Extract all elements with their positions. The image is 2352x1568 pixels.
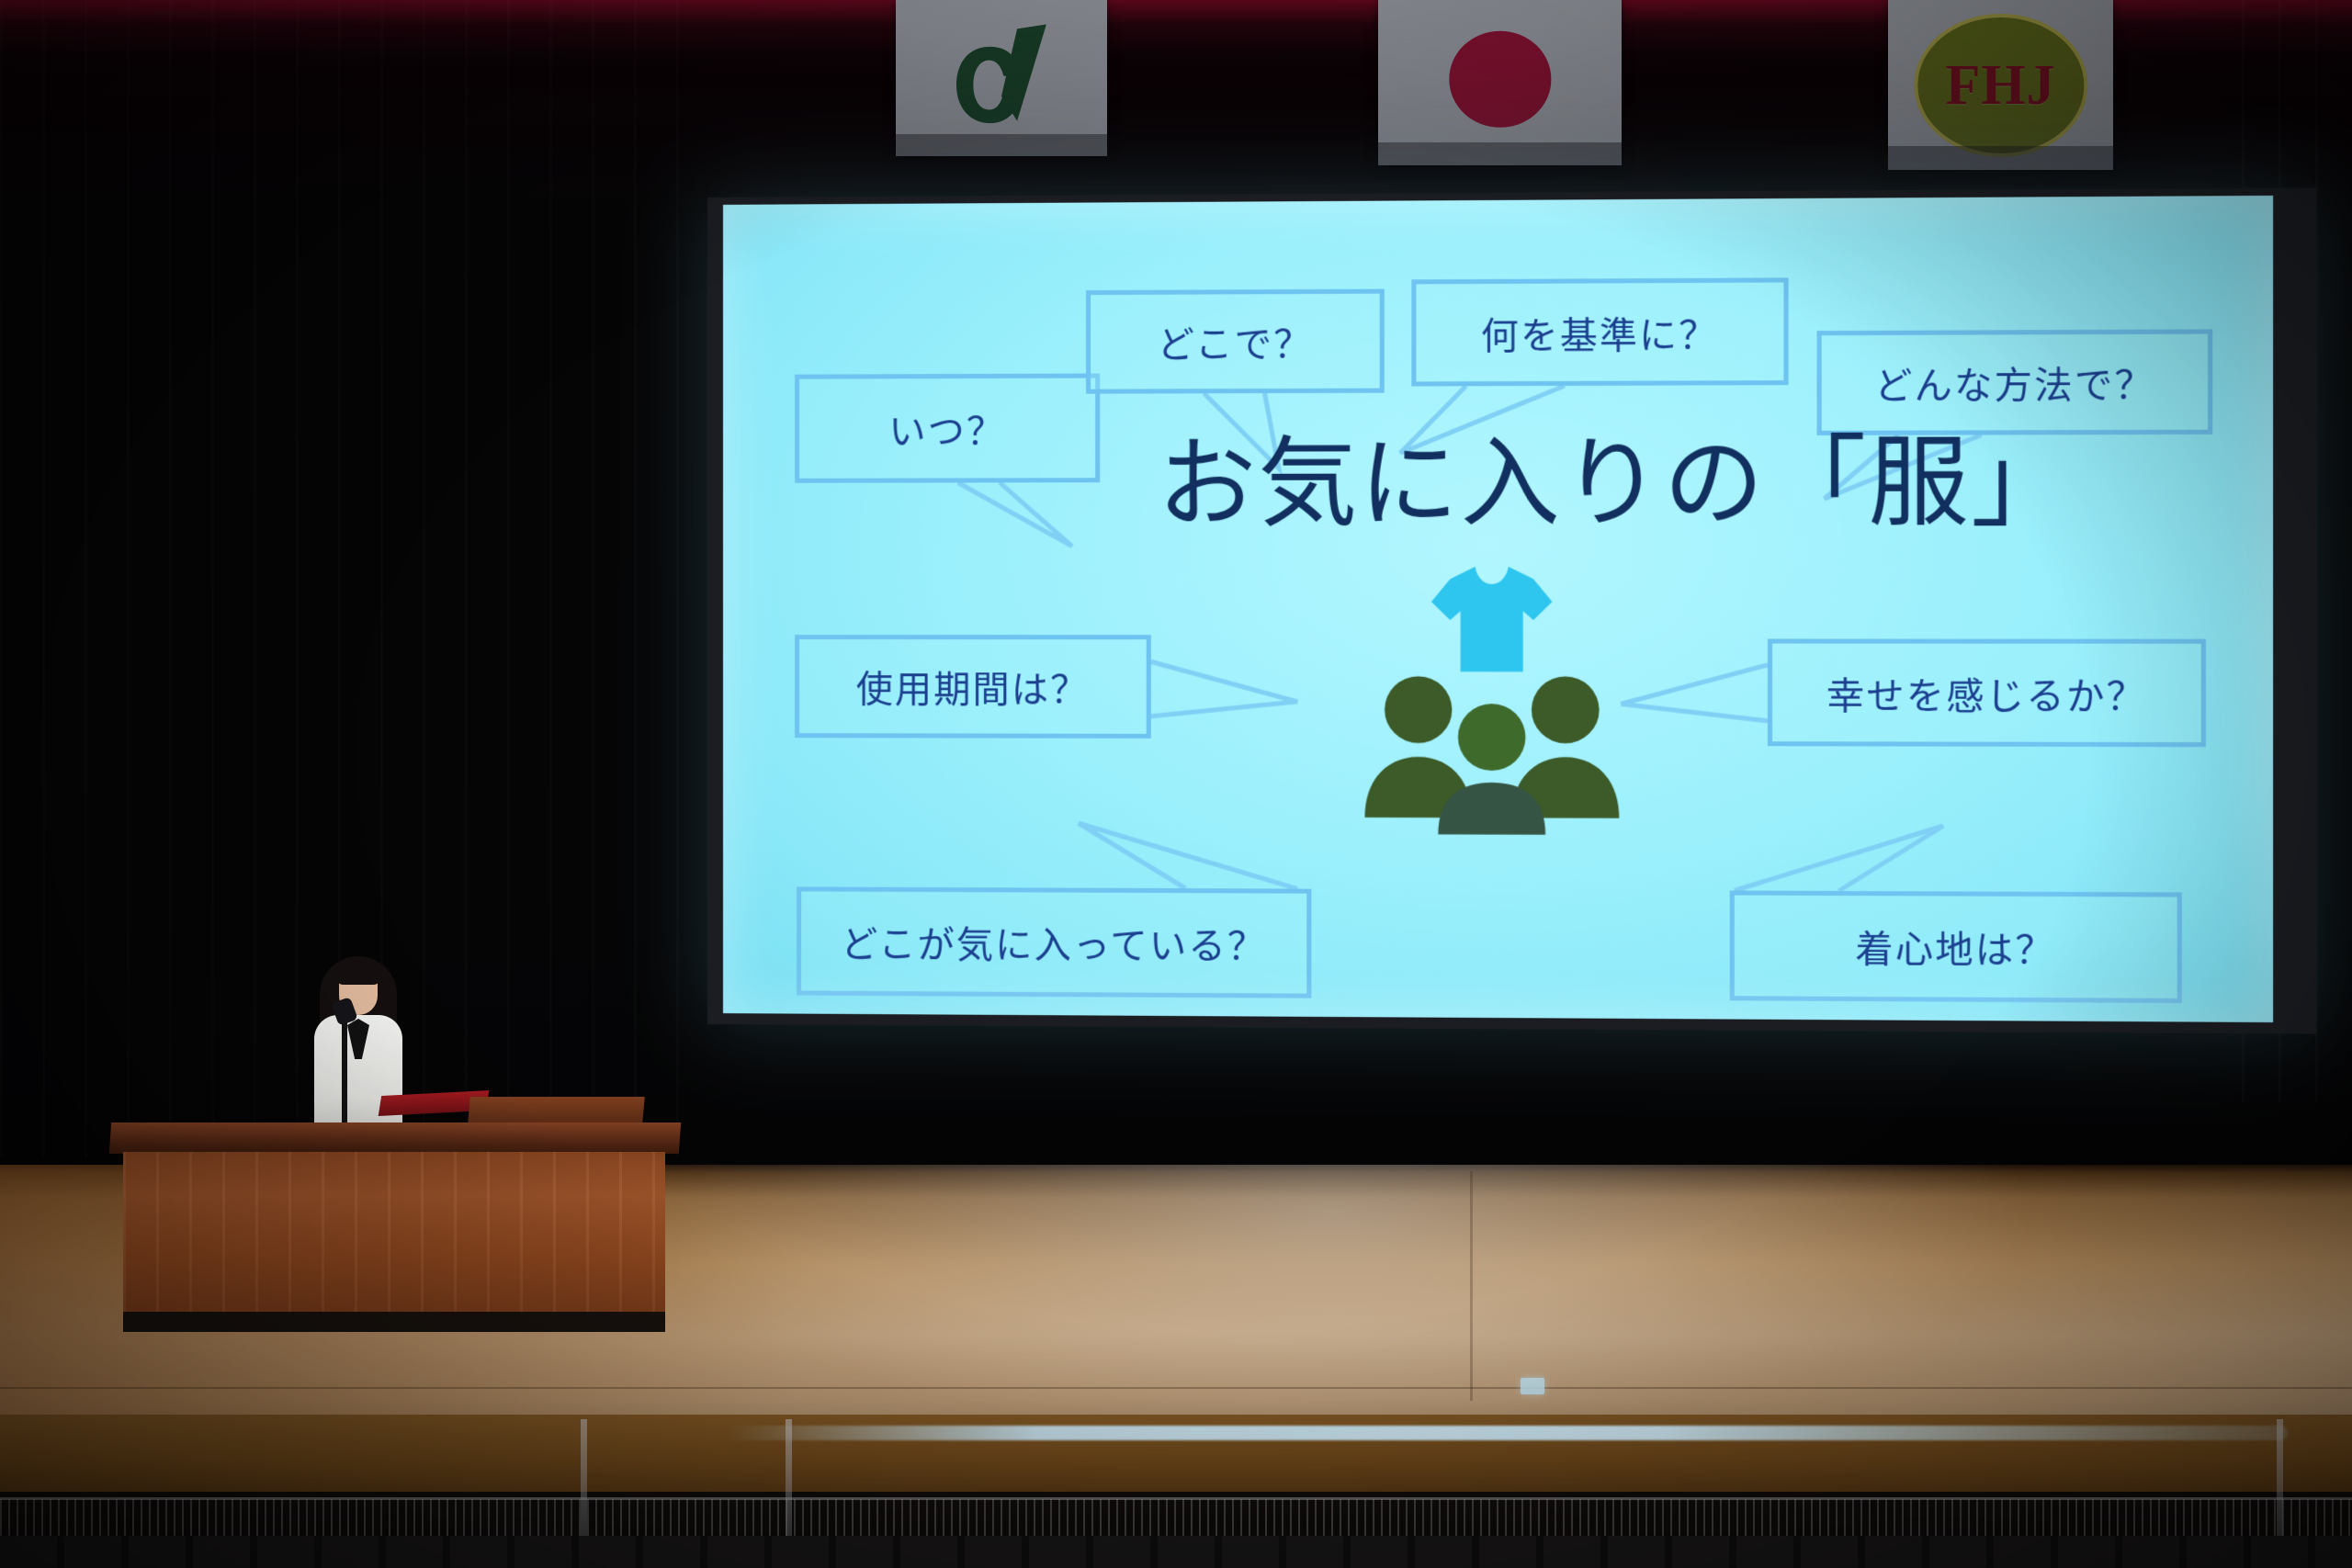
floor-seam bbox=[0, 1387, 2352, 1389]
podium-front-panel bbox=[123, 1152, 665, 1319]
bubble-itsu-text: いつ？ bbox=[888, 401, 1005, 456]
fhj-logo-banner: FHJ bbox=[1888, 0, 2113, 170]
bubble-itsu: いつ？ bbox=[795, 374, 1100, 483]
bubble-shiawase-text: 幸せを感じるか？ bbox=[1826, 665, 2146, 719]
bubble-nanio-text: 何を基準に？ bbox=[1481, 305, 1718, 360]
microphone-stand bbox=[342, 1010, 347, 1139]
bubble-dokode: どこで？ bbox=[1086, 289, 1385, 394]
bubble-shiyou-kikan: 使用期間は？ bbox=[795, 635, 1151, 739]
bubble-nanio-kijun: 何を基準に？ bbox=[1411, 277, 1788, 386]
people-group-icon bbox=[1363, 672, 1621, 836]
audience-seat-row bbox=[0, 1536, 2352, 1568]
podium-top-surface bbox=[109, 1122, 681, 1154]
bubble-dokoga-kiniitteiru: どこが気に入っている？ bbox=[797, 886, 1311, 998]
fhj-banner-label: FHJ bbox=[1945, 57, 2055, 114]
bubble-shiawase: 幸せを感じるか？ bbox=[1768, 638, 2206, 747]
podium-base-plinth bbox=[123, 1312, 665, 1332]
slide-title: お気に入りの「服」 bbox=[1158, 431, 1967, 536]
hinomaru-disc-icon bbox=[1449, 31, 1551, 127]
apron-footlight-highlight bbox=[726, 1426, 2288, 1440]
slide-surface: いつ？ どこで？ 何を基準に？ どんな方法で？ 使用期間は？ 幸せを感じるか？ … bbox=[723, 196, 2273, 1022]
bubble-dokoga-text: どこが気に入っている？ bbox=[841, 915, 1266, 971]
alpha-logo-banner bbox=[896, 0, 1107, 156]
center-icon-cluster bbox=[1346, 562, 1637, 841]
bubble-kigokochi: 着心地は？ bbox=[1730, 890, 2182, 1003]
bubble-donna-text: どんな方法で？ bbox=[1874, 355, 2154, 410]
projection-screen: いつ？ どこで？ 何を基準に？ どんな方法で？ 使用期間は？ 幸せを感じるか？ … bbox=[707, 187, 2316, 1033]
alpha-mark-icon bbox=[943, 22, 1074, 134]
bubble-shiyou-text: 使用期間は？ bbox=[856, 660, 1090, 714]
floor-seam bbox=[1470, 1171, 1473, 1401]
bubble-dokode-text: どこで？ bbox=[1157, 314, 1312, 368]
tshirt-icon bbox=[1429, 562, 1555, 676]
bubble-kigokochi-text: 着心地は？ bbox=[1855, 919, 2055, 975]
wooden-podium bbox=[110, 1122, 680, 1332]
bubble-donna-houhou: どんな方法で？ bbox=[1817, 329, 2213, 435]
fhj-oval-icon: FHJ bbox=[1914, 14, 2087, 157]
floor-inlay-light bbox=[1521, 1378, 1544, 1394]
japan-flag-banner bbox=[1378, 0, 1622, 165]
presenter-fringe bbox=[335, 960, 381, 985]
stage-photo: FHJ bbox=[0, 0, 2352, 1568]
